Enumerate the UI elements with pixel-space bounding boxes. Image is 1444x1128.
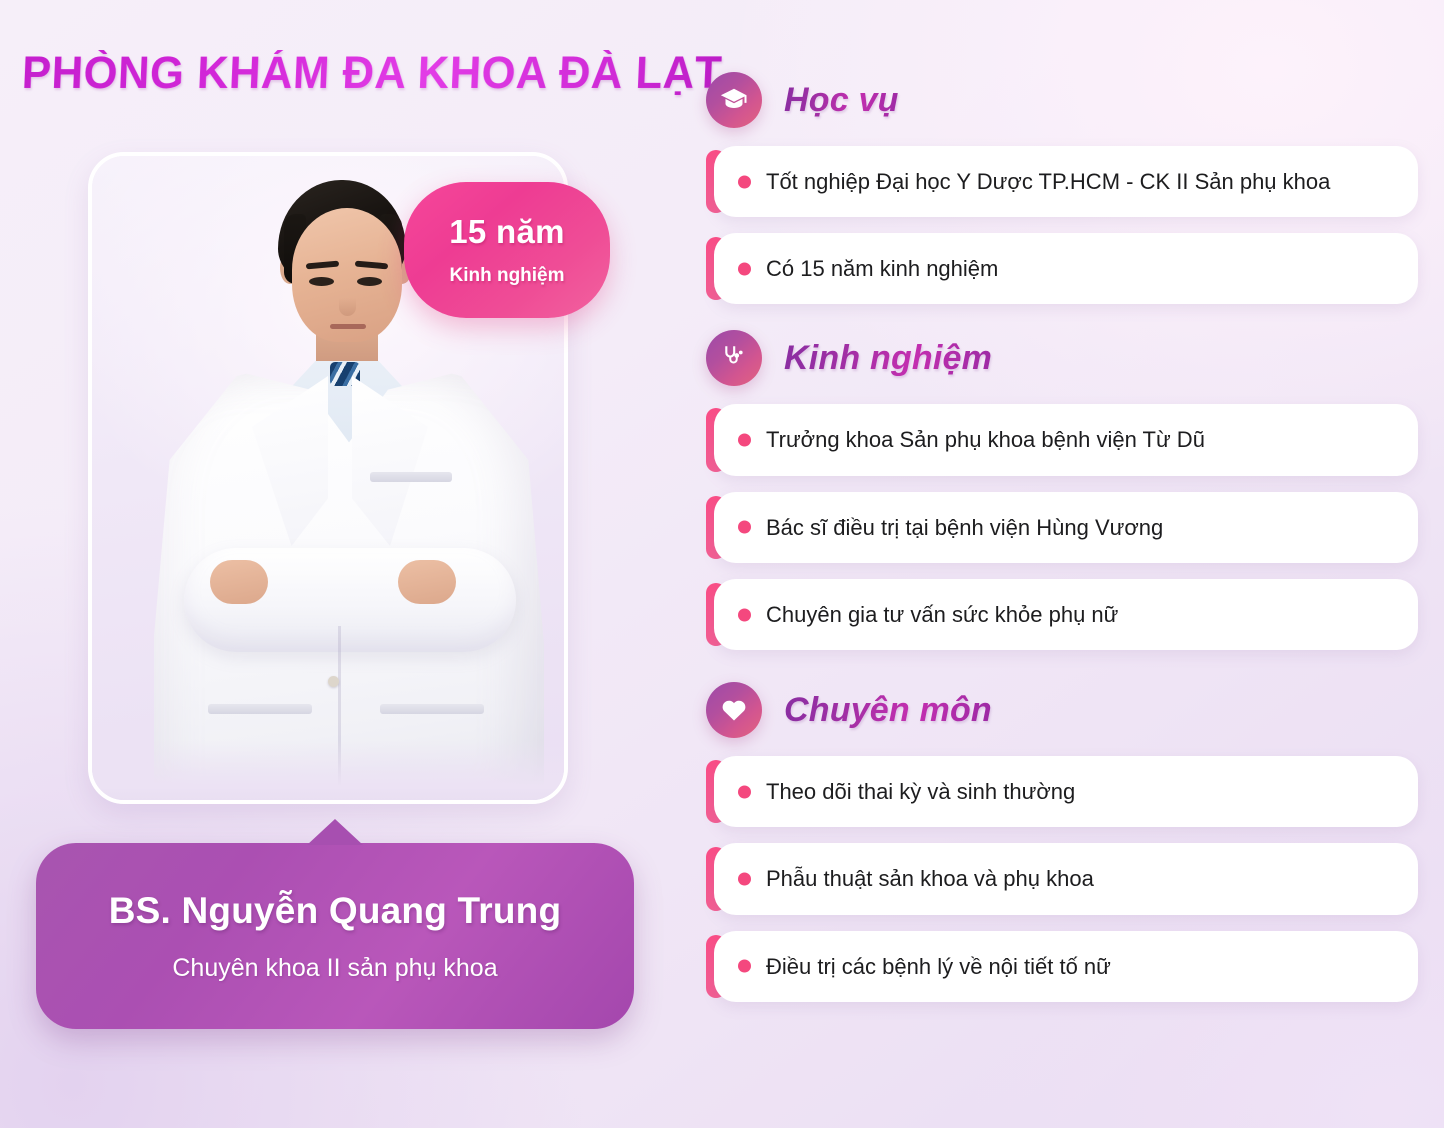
list-item: Có 15 năm kinh nghiệm — [714, 233, 1418, 304]
list-item-text: Theo dõi thai kỳ và sinh thường — [766, 776, 1075, 807]
portrait-nose — [339, 286, 356, 316]
bullet-icon — [738, 785, 751, 798]
bullet-icon — [738, 262, 751, 275]
list-item: Chuyên gia tư vấn sức khỏe phụ nữ — [714, 579, 1418, 650]
section-title-hoc-vu: Học vụ — [784, 81, 899, 120]
list-item-text: Bác sĩ điều trị tại bệnh viện Hùng Vương — [766, 512, 1163, 543]
list-item: Điều trị các bệnh lý về nội tiết tố nữ — [714, 931, 1418, 1002]
bullet-icon — [738, 873, 751, 886]
list-item-text: Điều trị các bệnh lý về nội tiết tố nữ — [766, 951, 1111, 982]
portrait-pocket-right — [380, 704, 484, 714]
portrait-face — [292, 208, 402, 342]
section-spacer — [706, 666, 1418, 682]
stethoscope-icon — [706, 330, 762, 386]
portrait-hand-left — [210, 560, 268, 604]
list-item: Tốt nghiệp Đại học Y Dược TP.HCM - CK II… — [714, 146, 1418, 217]
section-hoc-vu: Học vụ Tốt nghiệp Đại học Y Dược TP.HCM … — [706, 72, 1418, 304]
section-title-kinh-nghiem: Kinh nghiệm — [784, 339, 992, 378]
portrait-pocket-left — [208, 704, 312, 714]
portrait-coat-button — [328, 676, 339, 687]
experience-label: Kinh nghiệm — [449, 265, 564, 287]
list-item: Trưởng khoa Sản phụ khoa bệnh viện Từ Dũ — [714, 404, 1418, 475]
section-spacer — [706, 320, 1418, 330]
bullet-icon — [738, 521, 751, 534]
doctor-name: BS. Nguyễn Quang Trung — [109, 890, 562, 932]
section-kinh-nghiem: Kinh nghiệm Trưởng khoa Sản phụ khoa bện… — [706, 330, 1418, 650]
page-title: PHÒNG KHÁM ĐA KHOA ĐÀ LẠT — [21, 50, 723, 95]
portrait-hand-right — [398, 560, 456, 604]
list-item-text: Có 15 năm kinh nghiệm — [766, 253, 998, 284]
list-item-text: Phẫu thuật sản khoa và phụ khoa — [766, 863, 1094, 894]
experience-years: 15 năm — [449, 213, 565, 251]
portrait-eye-left — [309, 277, 334, 286]
section-header-hoc-vu: Học vụ — [706, 72, 1418, 128]
bullet-icon — [738, 175, 751, 188]
heart-icon — [706, 682, 762, 738]
portrait-mouth — [330, 324, 366, 329]
bullet-icon — [738, 960, 751, 973]
list-item: Phẫu thuật sản khoa và phụ khoa — [714, 843, 1418, 914]
doctor-specialty: Chuyên khoa II sản phụ khoa — [172, 954, 497, 983]
portrait-eye-right — [357, 277, 382, 286]
experience-badge: 15 năm Kinh nghiệm — [404, 182, 610, 318]
doctor-name-badge: BS. Nguyễn Quang Trung Chuyên khoa II sả… — [36, 843, 634, 1029]
section-title-chuyen-mon: Chuyên môn — [784, 691, 992, 730]
list-item-text: Trưởng khoa Sản phụ khoa bệnh viện Từ Dũ — [766, 424, 1205, 455]
section-header-chuyen-mon: Chuyên môn — [706, 682, 1418, 738]
list-item: Bác sĩ điều trị tại bệnh viện Hùng Vương — [714, 492, 1418, 563]
list-item-text: Chuyên gia tư vấn sức khỏe phụ nữ — [766, 599, 1118, 630]
section-chuyen-mon: Chuyên môn Theo dõi thai kỳ và sinh thườ… — [706, 682, 1418, 1002]
list-item: Theo dõi thai kỳ và sinh thường — [714, 756, 1418, 827]
credentials-column: Học vụ Tốt nghiệp Đại học Y Dược TP.HCM … — [706, 72, 1418, 1018]
portrait-chest-pocket — [370, 472, 452, 482]
bullet-icon — [738, 434, 751, 447]
section-header-kinh-nghiem: Kinh nghiệm — [706, 330, 1418, 386]
photo-bottom-fade — [92, 740, 564, 800]
bullet-icon — [738, 608, 751, 621]
list-item-text: Tốt nghiệp Đại học Y Dược TP.HCM - CK II… — [766, 166, 1330, 197]
graduation-cap-icon — [706, 72, 762, 128]
